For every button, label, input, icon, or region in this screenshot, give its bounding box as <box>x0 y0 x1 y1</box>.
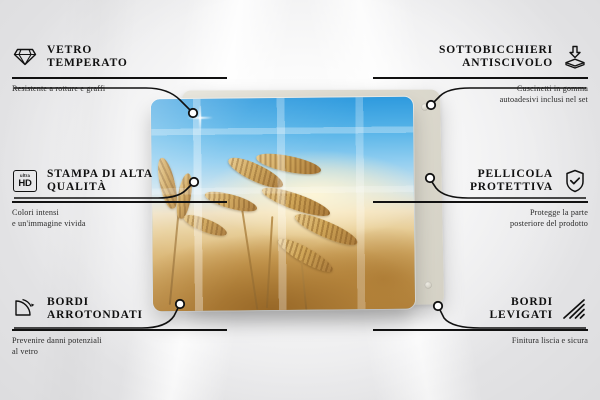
feature-divider <box>373 329 588 331</box>
feature-header: BORDI LEVIGATI <box>373 292 588 326</box>
feature-description: Finitura liscia e sicura <box>373 335 588 346</box>
feature-title: STAMPA DI ALTA QUALITÀ <box>47 168 153 195</box>
feature-title: VETRO TEMPERATO <box>47 44 128 71</box>
nonslip-pad-icon <box>562 44 588 70</box>
feature-description: Cuscinetti in gomma autoadesivi inclusi … <box>373 83 588 105</box>
feature-header: BORDI ARROTONDATI <box>12 292 227 326</box>
feature-title: PELLICOLA PROTETTIVA <box>470 168 553 195</box>
feature-stampa-di-alta-qualita: ultra HD STAMPA DI ALTA QUALITÀ Colori i… <box>12 164 227 229</box>
diamond-icon <box>12 44 38 70</box>
feature-title: SOTTOBICCHIERI ANTISCIVOLO <box>439 44 553 71</box>
feature-divider <box>12 201 227 203</box>
feature-divider <box>12 77 227 79</box>
feature-header: PELLICOLA PROTETTIVA <box>373 164 588 198</box>
polished-edge-hatch-icon <box>562 296 588 322</box>
rubber-pad-top-right <box>421 104 428 111</box>
feature-bordi-levigati: BORDI LEVIGATI Finitura liscia e sicura <box>373 292 588 346</box>
feature-divider <box>12 329 227 331</box>
rubber-pad-bottom-right <box>425 282 432 289</box>
feature-sottobicchieri-antiscivolo: SOTTOBICCHIERI ANTISCIVOLO Cuscinetti in… <box>373 40 588 105</box>
shield-check-icon <box>562 168 588 194</box>
feature-divider <box>373 77 588 79</box>
hd-badge-main-text: HD <box>18 179 31 189</box>
feature-title: BORDI ARROTONDATI <box>47 296 143 323</box>
feature-header: ultra HD STAMPA DI ALTA QUALITÀ <box>12 164 227 198</box>
feature-description: Prevenire danni potenziali al vetro <box>12 335 227 357</box>
rounded-corner-icon <box>12 296 38 322</box>
feature-pellicola-protettiva: PELLICOLA PROTETTIVA Protegge la parte p… <box>373 164 588 229</box>
feature-vetro-temperato: VETRO TEMPERATO Resistente a rotture e g… <box>12 40 227 94</box>
infographic-canvas: VETRO TEMPERATO Resistente a rotture e g… <box>0 0 600 400</box>
ultra-hd-badge-icon: ultra HD <box>12 168 38 194</box>
feature-header: SOTTOBICCHIERI ANTISCIVOLO <box>373 40 588 74</box>
feature-header: VETRO TEMPERATO <box>12 40 227 74</box>
feature-bordi-arrotondati: BORDI ARROTONDATI Prevenire danni potenz… <box>12 292 227 357</box>
feature-title: BORDI LEVIGATI <box>490 296 553 323</box>
feature-description: Protegge la parte posteriore del prodott… <box>373 207 588 229</box>
feature-divider <box>373 201 588 203</box>
feature-description: Colori intensi e un'immagine vivida <box>12 207 227 229</box>
feature-description: Resistente a rotture e graffi <box>12 83 227 94</box>
